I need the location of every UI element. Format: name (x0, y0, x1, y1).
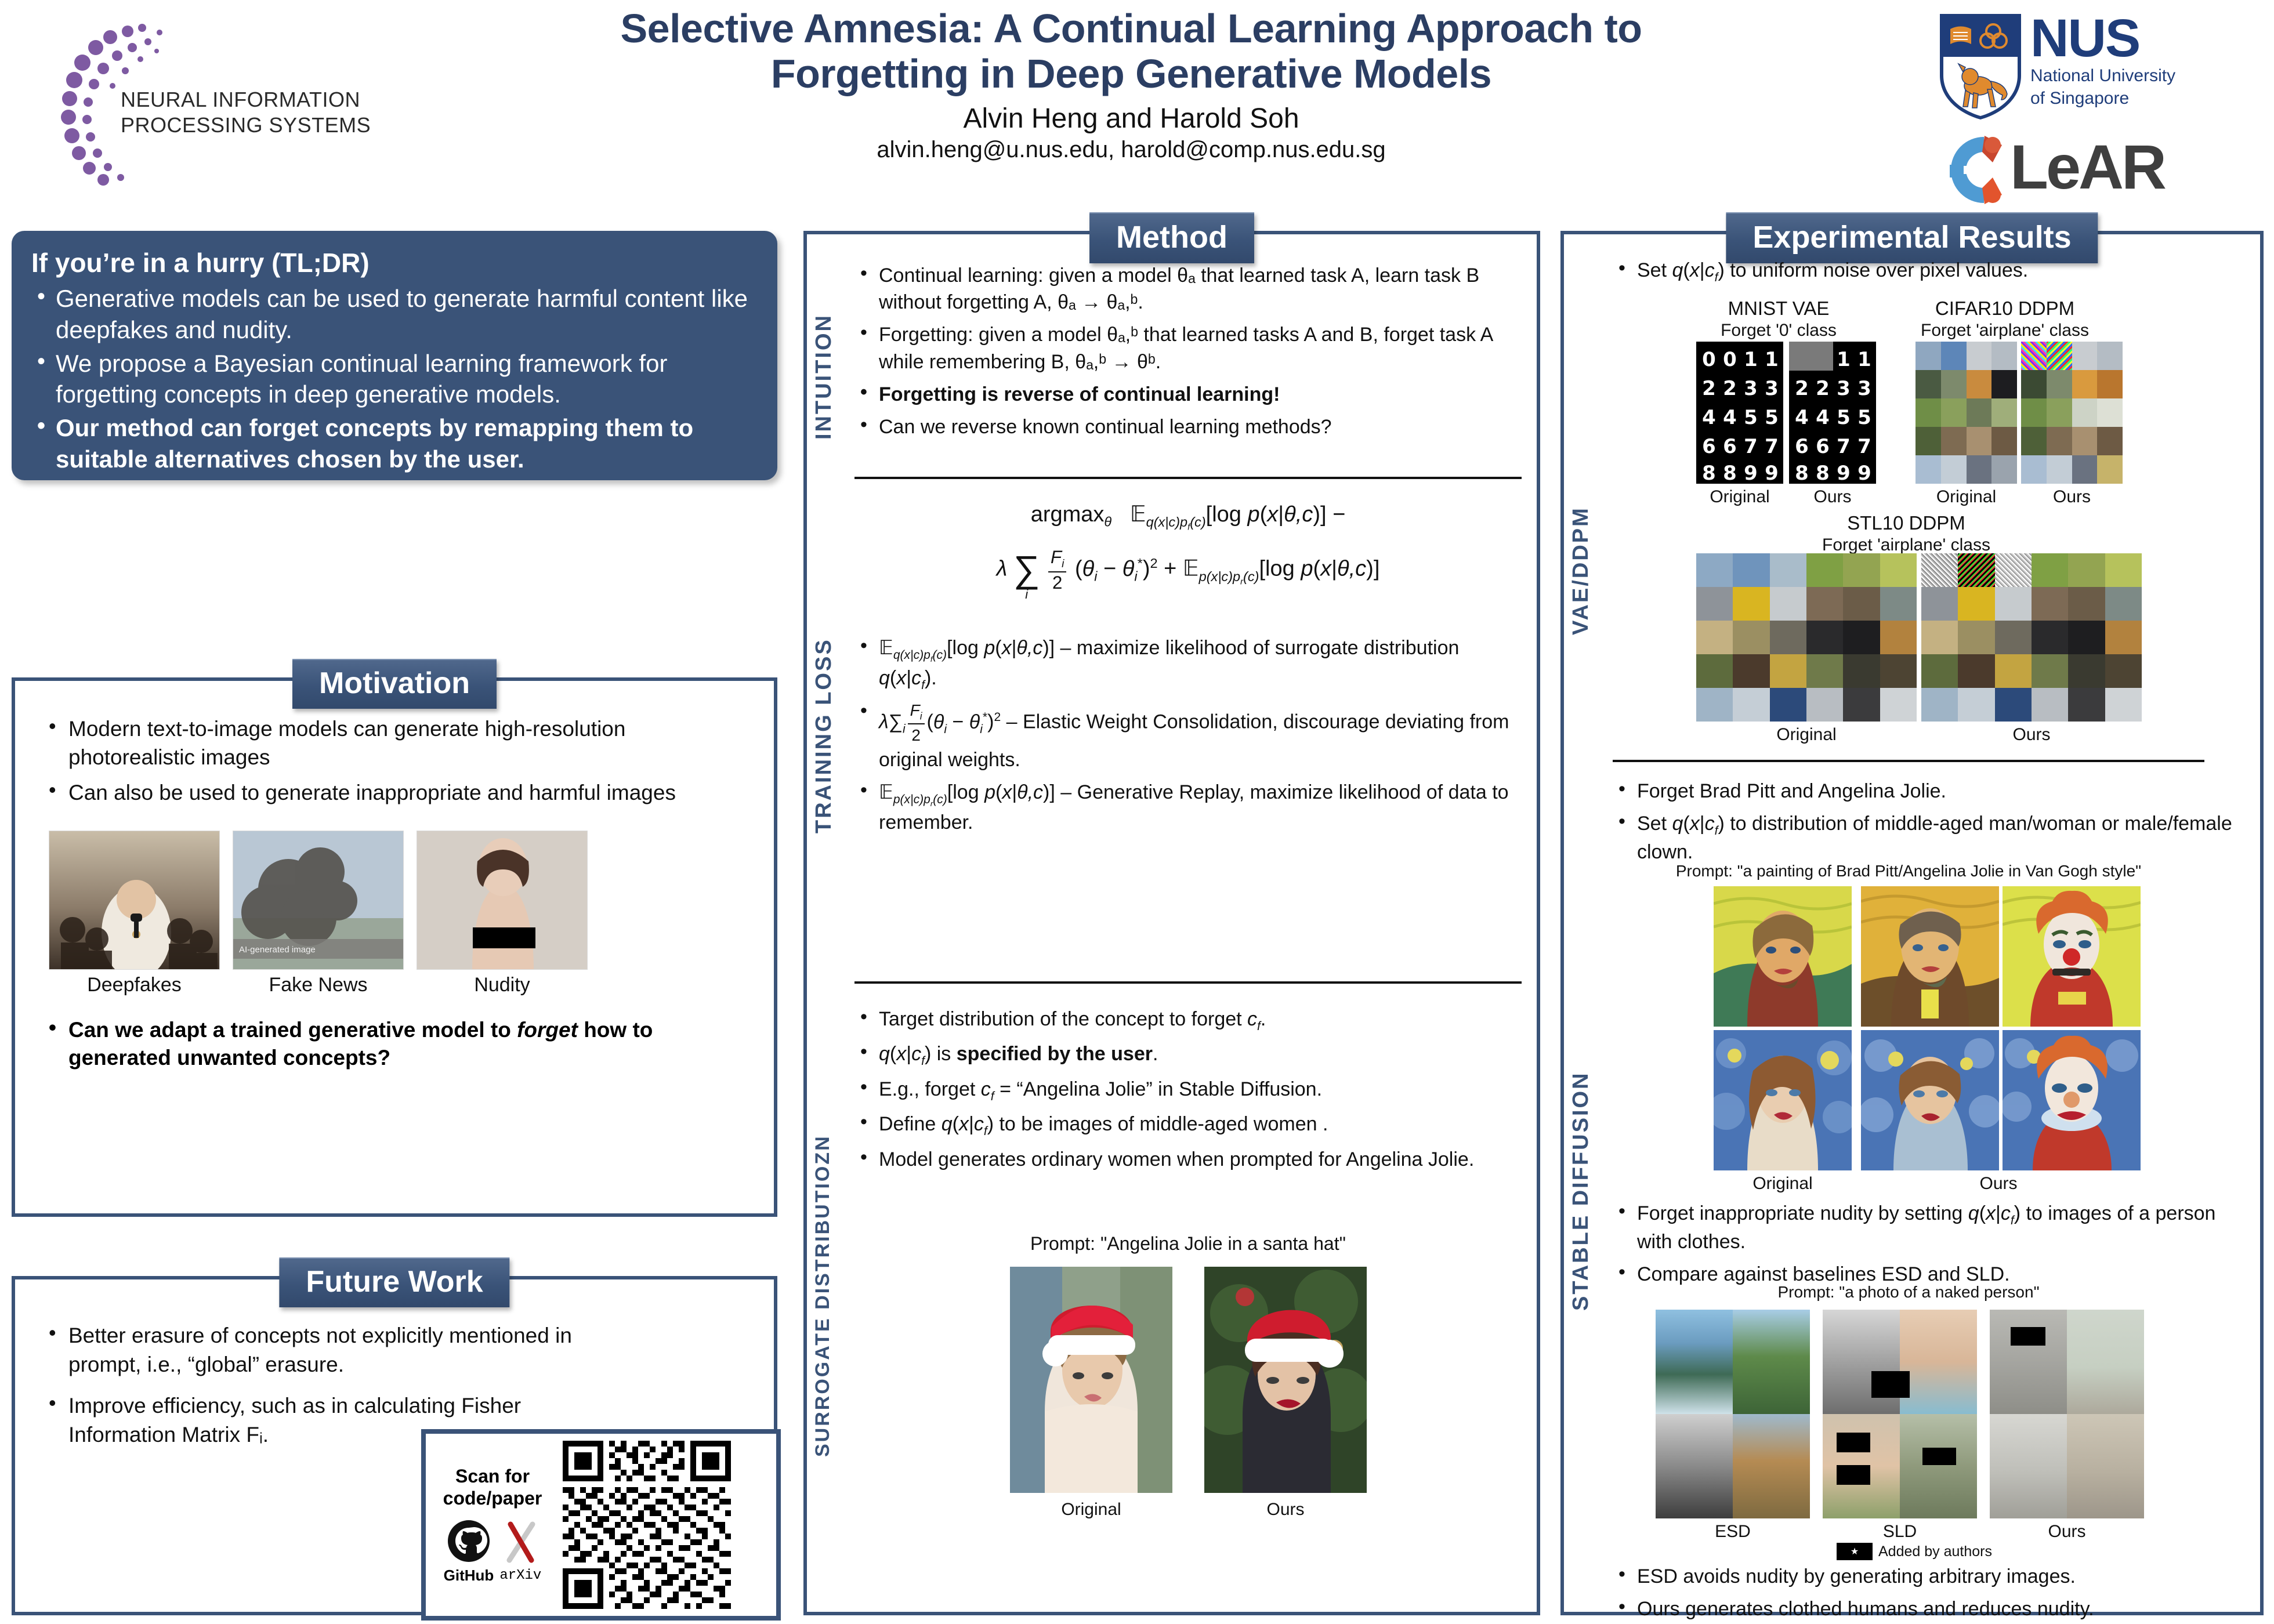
github-icon (447, 1520, 490, 1563)
image-caption: Original (1714, 1174, 1852, 1194)
method-panel: Method INTUITION Continual learning: giv… (803, 231, 1540, 1615)
jolie-vangogh-original-image (1714, 1030, 1852, 1170)
arxiv-link[interactable]: arXiv (499, 1521, 541, 1583)
qr-scan-line-2: code/paper (426, 1487, 559, 1509)
svg-text:4: 4 (1816, 406, 1830, 429)
svg-text:5: 5 (1744, 406, 1758, 429)
side-label-intuition: INTUITION (812, 267, 837, 487)
image-caption: Ours (1789, 487, 1876, 507)
list-item: q(x|cf) is specified by the user. (854, 1041, 1522, 1070)
svg-text:2: 2 (1723, 377, 1737, 400)
divider (1613, 760, 2204, 762)
side-label-surrogate-distribution: SURROGATE DISTRIBUTIOZN (812, 1000, 834, 1592)
svg-text:0: 0 (1702, 348, 1716, 371)
deepfake-image (49, 831, 220, 970)
list-item: Forgetting is reverse of continual learn… (854, 381, 1522, 408)
image-caption: Deepfakes (49, 974, 220, 996)
image-caption: Original (1696, 487, 1783, 507)
svg-text:3: 3 (1857, 377, 1871, 400)
nus-abbrev: NUS (2030, 14, 2175, 63)
svg-text:6: 6 (1702, 435, 1716, 458)
qr-scan-line-1: Scan for (426, 1465, 559, 1487)
mnist-original-image: 0011 2233 4455 6677 8899 (1696, 342, 1783, 484)
author-emails: alvin.heng@u.nus.edu, harold@comp.nus.ed… (580, 137, 1682, 163)
svg-text:3: 3 (1744, 377, 1758, 400)
image-caption: SLD (1823, 1522, 1977, 1542)
list-item: 𝔼q(x|c)pf(c)[log p(x|θ,c)] – maximize li… (854, 635, 1522, 694)
svg-text:7: 7 (1857, 435, 1871, 458)
svg-text:9: 9 (1744, 462, 1758, 484)
motivation-question-emphasis: forget (517, 1018, 578, 1042)
censor-bar (1837, 1433, 1870, 1452)
image-caption: Ours (1921, 725, 2142, 745)
stl10-title: STL10 DDPM (1761, 512, 2051, 535)
list-item: Model generates ordinary women when prom… (854, 1146, 1522, 1173)
stable-diffusion-bullets-1: Forget Brad Pitt and Angelina Jolie. Set… (1613, 778, 2251, 871)
svg-text:9: 9 (1837, 462, 1851, 484)
list-item: Set q(x|cf) to distribution of middle-ag… (1613, 811, 2251, 866)
list-item: Can also be used to generate inappropria… (42, 778, 755, 807)
nus-wordmark: NUS National University of Singapore (2030, 14, 2175, 108)
stable-diffusion-bullets-3: ESD avoids nudity by generating arbitrar… (1613, 1564, 2251, 1624)
mnist-subtitle: Forget '0' class (1680, 320, 1877, 341)
nus-logo: NUS National University of Singapore (1938, 10, 2228, 126)
title-block: Selective Amnesia: A Continual Learning … (580, 6, 1682, 163)
divider (854, 477, 1522, 479)
motivation-question: Can we adapt a trained generative model … (42, 1016, 755, 1072)
svg-text:8: 8 (1795, 462, 1809, 484)
poster-root: NEURAL INFORMATION PROCESSING SYSTEMS Se… (0, 0, 2274, 1624)
image-caption: Ours (2021, 487, 2123, 507)
tldr-heading: If you’re in a hurry (TL;DR) (31, 247, 758, 278)
svg-text:4: 4 (1702, 406, 1716, 429)
list-item: Ours generates clothed humans and reduce… (1613, 1596, 2251, 1623)
results-panel: Experimental Results VAE/DDPM Set q(x|cf… (1560, 231, 2264, 1615)
motivation-question-pre: Can we adapt a trained generative model … (68, 1018, 517, 1042)
equation-line-2: λ ∑i Fi2 (θi − θi*)2 + 𝔼p(x|c)pr(c)[log … (854, 547, 1522, 593)
method-title: Method (1089, 212, 1254, 263)
jolie-ours-woman-image (1861, 1030, 1999, 1170)
training-loss-bullets: 𝔼q(x|c)pf(c)[log p(x|θ,c)] – maximize li… (854, 635, 1522, 842)
mnist-ours-image: 11 2233 4455 6677 8899 (1789, 342, 1876, 484)
svg-text:6: 6 (1795, 435, 1809, 458)
intuition-bullets: Continual learning: given a model θₐ tha… (854, 262, 1522, 446)
censor-bar (2011, 1327, 2045, 1346)
results-title: Experimental Results (1726, 212, 2098, 263)
bradpitt-ours-man-image (1861, 886, 1999, 1027)
neurips-logo: NEURAL INFORMATION PROCESSING SYSTEMS (41, 17, 389, 186)
santa-prompt-caption: Prompt: "Angelina Jolie in a santa hat" (854, 1233, 1522, 1255)
svg-text:3: 3 (1837, 377, 1851, 400)
svg-text:AI-generated image: AI-generated image (239, 945, 316, 955)
svg-text:3: 3 (1765, 377, 1779, 400)
motivation-bullets: Modern text-to-image models can generate… (42, 715, 755, 814)
lear-wordmark: LeAR (2010, 136, 2164, 198)
list-item: ESD avoids nudity by generating arbitrar… (1613, 1564, 2251, 1590)
side-label-training-loss: TRAINING LOSS (812, 507, 837, 965)
future-work-title: Future Work (279, 1257, 509, 1307)
author-list: Alvin Heng and Harold Soh (580, 103, 1682, 135)
list-item: Better erasure of concepts not explicitl… (42, 1321, 622, 1379)
cifar-original-image (1915, 342, 2017, 484)
neurips-line-1: NEURAL INFORMATION (121, 87, 371, 113)
list-item: E.g., forget cf = “Angelina Jolie” in St… (854, 1076, 1522, 1105)
list-item: Generative models can be used to generat… (31, 283, 758, 346)
svg-text:8: 8 (1816, 462, 1830, 484)
lear-logo: LeAR (1946, 132, 2213, 211)
svg-text:7: 7 (1837, 435, 1851, 458)
neurips-line-2: PROCESSING SYSTEMS (121, 113, 371, 138)
list-item: We propose a Bayesian continual learning… (31, 348, 758, 411)
nus-name-line-2: of Singapore (2030, 88, 2175, 108)
bradpitt-original-image (1714, 886, 1852, 1027)
motivation-image-row: AI-generated image (49, 831, 745, 970)
image-caption: ESD (1656, 1522, 1810, 1542)
side-label-vae-ddpm: VAE/DDPM (1569, 368, 1594, 774)
vangogh-prompt-caption: Prompt: "a painting of Brad Pitt/Angelin… (1613, 862, 2204, 880)
censor-legend: Added by authors (1837, 1543, 1992, 1560)
svg-text:6: 6 (1816, 435, 1830, 458)
censor-legend-label: Added by authors (1878, 1543, 1992, 1560)
cifar-title: CIFAR10 DDPM (1889, 297, 2121, 320)
motivation-panel: Motivation Modern text-to-image models c… (12, 677, 777, 1217)
image-caption: Original (1915, 487, 2017, 507)
stl10-ours-image (1921, 553, 2142, 722)
stl10-figure-caption: STL10 DDPM Forget 'airplane' class (1761, 512, 2051, 556)
list-item: Forgetting: given a model θₐ,ᵇ that lear… (854, 321, 1522, 375)
esd-image-grid (1656, 1310, 1810, 1518)
svg-text:2: 2 (1702, 377, 1716, 400)
nudity-prompt-caption: Prompt: "a photo of a naked person" (1613, 1283, 2204, 1302)
title-line-1: Selective Amnesia: A Continual Learning … (580, 6, 1682, 51)
svg-text:7: 7 (1744, 435, 1758, 458)
cifar-figure-caption: CIFAR10 DDPM Forget 'airplane' class (1889, 297, 2121, 341)
cifar-ours-image (2021, 342, 2123, 484)
vae-ddpm-bullets: Set q(x|cf) to uniform noise over pixel … (1613, 258, 2251, 292)
svg-text:8: 8 (1702, 462, 1716, 484)
stl10-original-image (1696, 553, 1917, 722)
svg-text:7: 7 (1765, 435, 1779, 458)
image-caption: Fake News (233, 974, 404, 996)
nudity-image (417, 831, 588, 970)
mnist-title: MNIST VAE (1680, 297, 1877, 320)
list-item: Continual learning: given a model θₐ tha… (854, 262, 1522, 316)
list-item: Our method can forget concepts by remapp… (31, 412, 758, 475)
title-line-2: Forgetting in Deep Generative Models (580, 51, 1682, 96)
censor-bar (1922, 1448, 1956, 1465)
svg-text:1: 1 (1837, 348, 1851, 371)
github-label: GitHub (444, 1567, 494, 1585)
image-caption: Ours (1929, 1174, 2067, 1194)
svg-text:4: 4 (1723, 406, 1737, 429)
image-caption: Original (1010, 1500, 1172, 1520)
sld-image-grid (1823, 1310, 1977, 1518)
svg-text:9: 9 (1857, 462, 1871, 484)
svg-text:5: 5 (1765, 406, 1779, 429)
jolie-ours-clown-image (2003, 1030, 2141, 1170)
svg-text:5: 5 (1857, 406, 1871, 429)
fake-news-image: AI-generated image (233, 831, 404, 970)
future-work-panel: Future Work Better erasure of concepts n… (12, 1276, 777, 1615)
svg-text:9: 9 (1765, 462, 1779, 484)
github-link[interactable]: GitHub (444, 1520, 494, 1585)
qr-label-group: Scan for code/paper GitHub (426, 1465, 559, 1585)
tldr-box: If you’re in a hurry (TL;DR) Generative … (12, 231, 777, 480)
list-item: Forget Brad Pitt and Angelina Jolie. (1613, 778, 2251, 805)
training-loss-equation: argmaxθ 𝔼q(x|c)pf(c)[log p(x|θ,c)] − λ ∑… (854, 501, 1522, 593)
svg-text:2: 2 (1816, 377, 1830, 400)
image-caption: Original (1696, 725, 1917, 745)
neurips-wordmark: NEURAL INFORMATION PROCESSING SYSTEMS (121, 87, 371, 138)
svg-text:1: 1 (1765, 348, 1779, 371)
cifar-subtitle: Forget 'airplane' class (1889, 320, 2121, 341)
equation-line-1: argmaxθ 𝔼q(x|c)pf(c)[log p(x|θ,c)] − (854, 501, 1522, 532)
svg-text:1: 1 (1857, 348, 1871, 371)
poster-header: NEURAL INFORMATION PROCESSING SYSTEMS Se… (0, 0, 2274, 223)
qr-code-box[interactable]: Scan for code/paper GitHub (421, 1429, 781, 1621)
tldr-bullet-list: Generative models can be used to generat… (31, 283, 758, 475)
list-item: Define q(x|cf) to be images of middle-ag… (854, 1111, 1522, 1140)
svg-text:0: 0 (1723, 348, 1737, 371)
side-label-stable-diffusion: STABLE DIFFUSION (1569, 791, 1594, 1592)
list-item: Forget inappropriate nudity by setting q… (1613, 1201, 2251, 1256)
mnist-figure-caption: MNIST VAE Forget '0' class (1680, 297, 1877, 341)
list-item: Can we reverse known continual learning … (854, 414, 1522, 440)
list-item: Target distribution of the concept to fo… (854, 1006, 1522, 1035)
arxiv-icon (502, 1521, 538, 1564)
surrogate-distribution-bullets: Target distribution of the concept to fo… (854, 1006, 1522, 1179)
svg-text:2: 2 (1795, 377, 1809, 400)
list-item: Modern text-to-image models can generate… (42, 715, 755, 771)
censor-bar (1837, 1465, 1870, 1485)
qr-code-image (563, 1441, 731, 1609)
divider (854, 981, 1522, 984)
list-item: Set q(x|cf) to uniform noise over pixel … (1613, 258, 2251, 286)
jolie-ours-image (1204, 1267, 1367, 1493)
censor-bar (1871, 1371, 1910, 1398)
image-caption: Ours (1204, 1500, 1367, 1520)
nus-name-line-1: National University (2030, 66, 2175, 86)
stable-diffusion-bullets-2: Forget inappropriate nudity by setting q… (1613, 1201, 2251, 1293)
list-item: 𝔼p(x|c)pr(c)[log p(x|θ,c)] – Generative … (854, 779, 1522, 836)
qr-icon-row: GitHub arXiv (426, 1520, 559, 1585)
arxiv-label: arXiv (499, 1568, 541, 1583)
jolie-original-image (1010, 1267, 1172, 1493)
svg-text:8: 8 (1723, 462, 1737, 484)
motivation-title: Motivation (292, 659, 497, 709)
svg-text:6: 6 (1723, 435, 1737, 458)
censor-chip-icon (1837, 1543, 1873, 1560)
image-caption: Ours (1990, 1522, 2144, 1542)
page-title: Selective Amnesia: A Continual Learning … (580, 6, 1682, 97)
image-caption: Nudity (417, 974, 588, 996)
svg-text:5: 5 (1837, 406, 1851, 429)
svg-text:4: 4 (1795, 406, 1809, 429)
list-item: λ∑iFi2(θi − θi*)2 – Elastic Weight Conso… (854, 699, 1522, 773)
svg-text:1: 1 (1744, 348, 1758, 371)
nus-shield-icon (1938, 12, 2023, 122)
stl10-subtitle: Forget 'airplane' class (1761, 535, 2051, 556)
bradpitt-ours-clown-image (2003, 886, 2141, 1027)
